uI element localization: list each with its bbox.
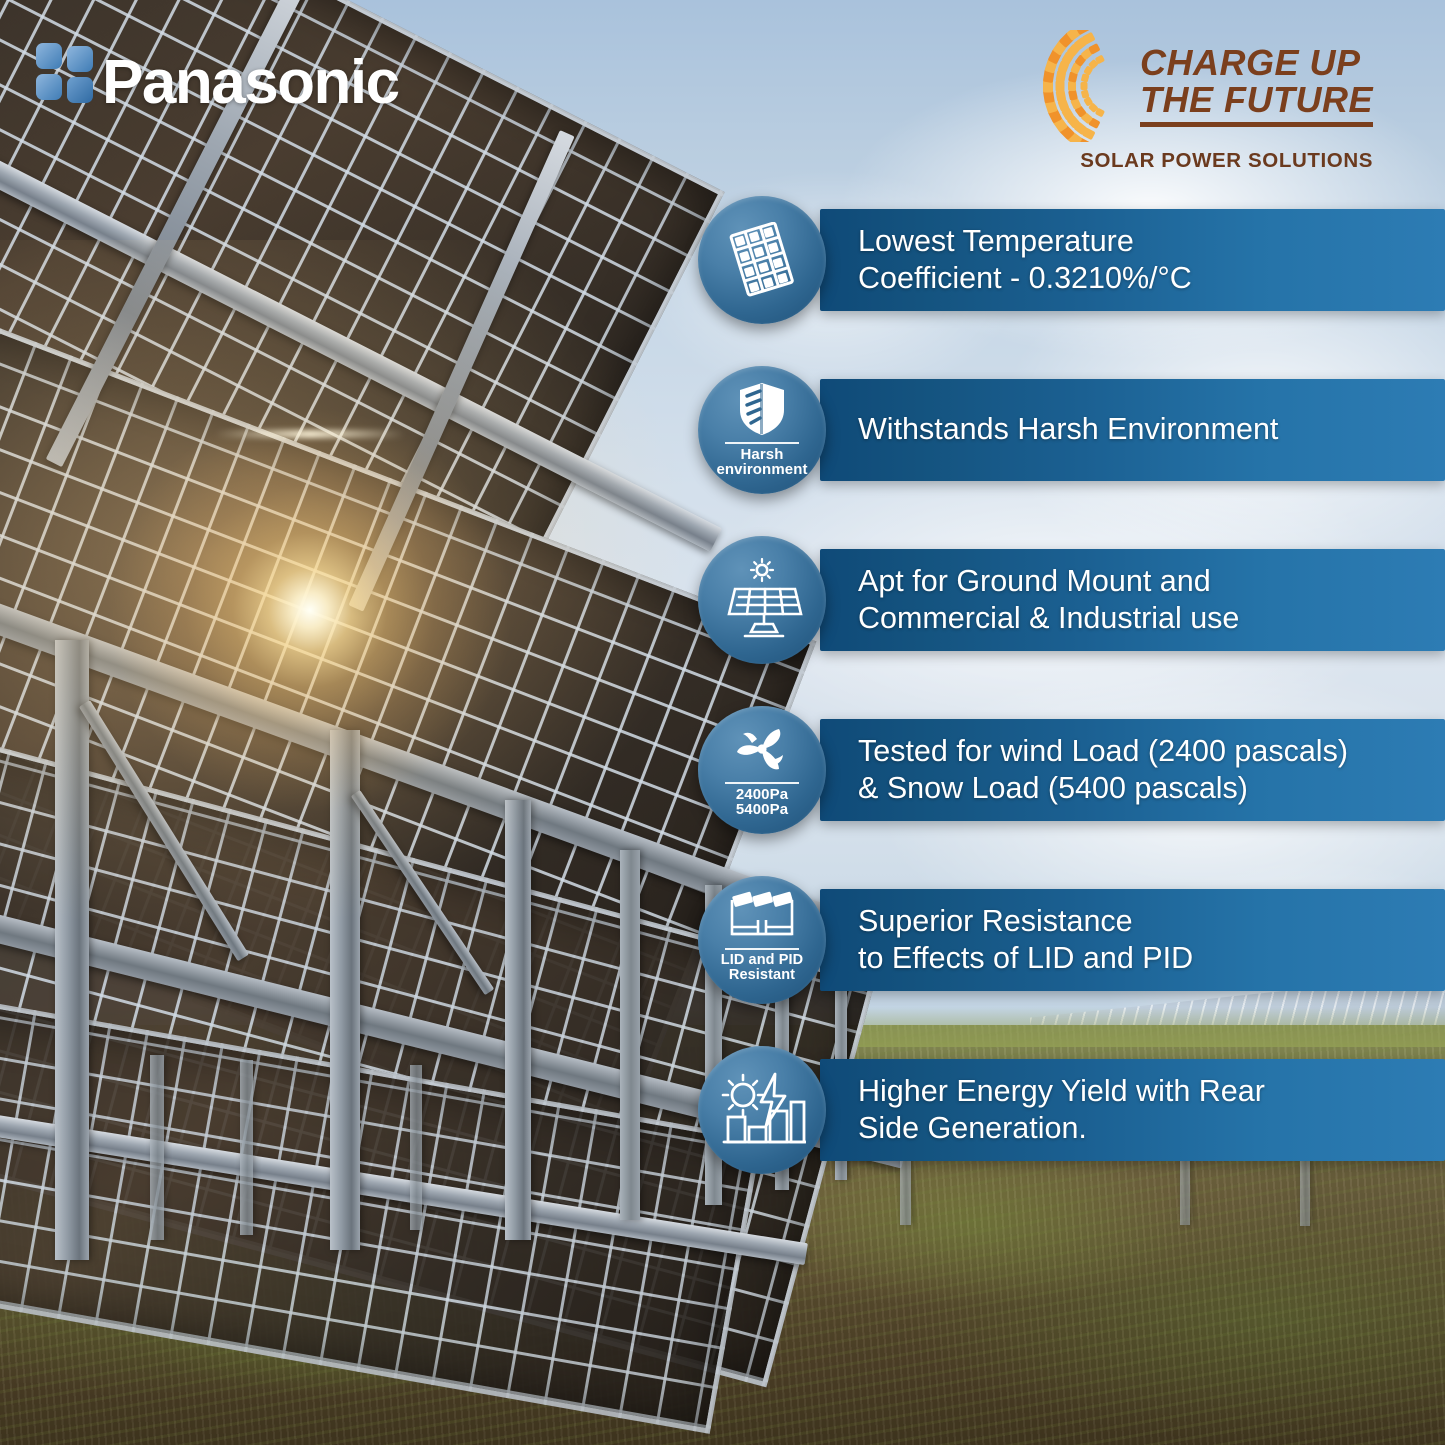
shield-icon	[735, 380, 789, 438]
feature-bar: Withstands Harsh Environment	[820, 379, 1445, 481]
tilted-solar-panel-icon	[725, 222, 799, 298]
sunburst-icon	[1026, 30, 1136, 142]
lid-pid-circuit-icon	[724, 890, 800, 944]
feature-bar: Apt for Ground Mount and Commercial & In…	[820, 549, 1445, 651]
feature-icon-circle	[698, 536, 826, 664]
feature-text: Apt for Ground Mount and Commercial & In…	[820, 563, 1259, 637]
charge-up-underline	[1140, 122, 1373, 127]
feature-icon-circle	[698, 196, 826, 324]
feature-row-harsh-environment[interactable]: Withstands Harsh Environment	[698, 366, 1445, 494]
feature-icon-circle	[698, 1046, 826, 1174]
icon-divider	[725, 782, 799, 784]
icon-divider	[725, 948, 799, 950]
feature-row-ground-mount[interactable]: Apt for Ground Mount and Commercial & In…	[698, 536, 1445, 664]
panasonic-wordmark: Panasonic	[102, 52, 399, 114]
icon-caption: LID and PID Resistant	[721, 953, 803, 983]
feature-row-wind-snow-load[interactable]: Tested for wind Load (2400 pascals) & Sn…	[698, 706, 1445, 834]
feature-icon-circle: Harsh environment	[698, 366, 826, 494]
charge-up-line1: CHARGE UP	[1140, 45, 1361, 82]
ground-mount-solar-panel-sun-icon	[717, 558, 807, 642]
charge-up-the-future-logo: CHARGE UP THE FUTURE SOLAR POWER SOLUTIO…	[1026, 30, 1373, 173]
feature-bar: Lowest Temperature Coefficient - 0.3210%…	[820, 209, 1445, 311]
feature-text: Higher Energy Yield with Rear Side Gener…	[820, 1073, 1285, 1147]
icon-divider	[725, 442, 799, 444]
feature-row-lid-pid[interactable]: Superior Resistance to Effects of LID an…	[698, 876, 1445, 1004]
feature-bar: Superior Resistance to Effects of LID an…	[820, 889, 1445, 991]
feature-text: Lowest Temperature Coefficient - 0.3210%…	[820, 223, 1212, 297]
feature-icon-circle: 2400Pa 5400Pa	[698, 706, 826, 834]
charge-up-line2: THE FUTURE	[1140, 82, 1373, 119]
sun-bolt-bar-chart-icon	[718, 1069, 806, 1151]
panasonic-logo: Panasonic	[36, 36, 399, 114]
feature-row-temperature-coefficient[interactable]: Lowest Temperature Coefficient - 0.3210%…	[698, 196, 1445, 324]
feature-text: Withstands Harsh Environment	[820, 411, 1298, 448]
feature-list: Lowest Temperature Coefficient - 0.3210%…	[0, 0, 1445, 1445]
infographic-poster: Panasonic CHA	[0, 0, 1445, 1445]
feature-icon-circle: LID and PID Resistant	[698, 876, 826, 1004]
feature-text: Tested for wind Load (2400 pascals) & Sn…	[820, 733, 1368, 807]
panasonic-four-squares-icon	[36, 43, 94, 107]
wind-turbine-fan-icon	[731, 720, 793, 778]
feature-bar: Higher Energy Yield with Rear Side Gener…	[820, 1059, 1445, 1161]
icon-caption: Harsh environment	[716, 447, 807, 478]
icon-caption: 2400Pa 5400Pa	[736, 787, 788, 818]
feature-row-energy-yield[interactable]: Higher Energy Yield with Rear Side Gener…	[698, 1046, 1445, 1174]
feature-bar: Tested for wind Load (2400 pascals) & Sn…	[820, 719, 1445, 821]
feature-text: Superior Resistance to Effects of LID an…	[820, 903, 1213, 977]
charge-up-tagline: SOLAR POWER SOLUTIONS	[1026, 149, 1373, 173]
